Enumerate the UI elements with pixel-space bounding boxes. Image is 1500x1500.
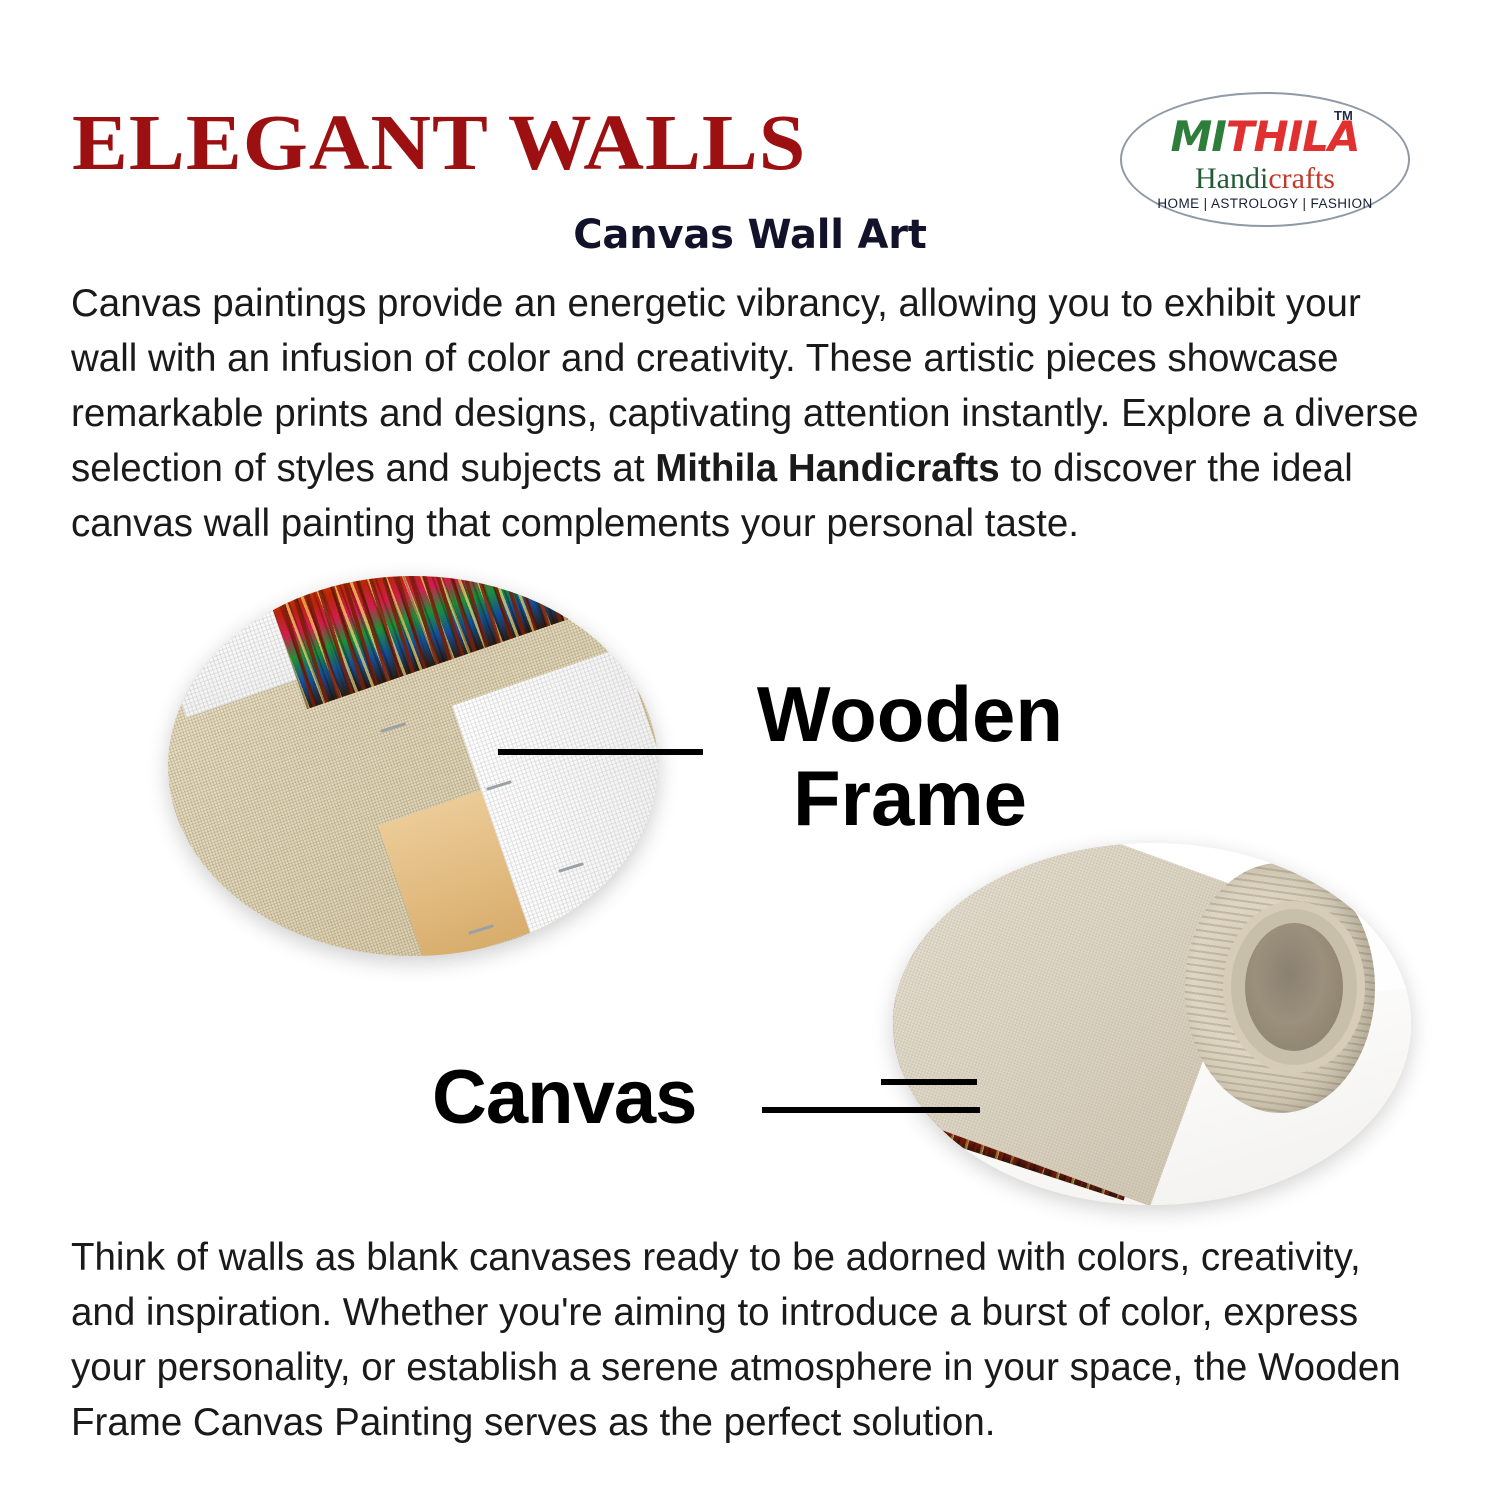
logo-subword-crafts: crafts [1268, 162, 1335, 195]
wooden-frame-label-line2: Frame [700, 756, 1120, 840]
canvas-roll-photo [893, 843, 1411, 1205]
trademark-icon: TM [1334, 108, 1353, 123]
poster-page: ELEGANT WALLS MITHILA TM Handicrafts HOM… [0, 0, 1500, 1500]
page-title: ELEGANT WALLS [72, 104, 806, 183]
wooden-frame-callout-label: Wooden Frame [700, 672, 1120, 840]
logo-subword: Handicrafts [1120, 164, 1410, 194]
intro-paragraph: Canvas paintings provide an energetic vi… [71, 276, 1421, 551]
logo-wordmark-mi: MI [1170, 112, 1225, 161]
canvas-roll-figure [893, 843, 1411, 1205]
closing-paragraph: Think of walls as blank canvases ready t… [71, 1230, 1421, 1450]
intro-brand-emphasis: Mithila Handicrafts [655, 447, 999, 490]
logo-subword-handi: Handi [1195, 162, 1268, 195]
wooden-frame-figure [168, 576, 658, 956]
wooden-frame-label-line1: Wooden [700, 672, 1120, 756]
canvas-connector-line [762, 1107, 980, 1113]
canvas-connector-stub [881, 1079, 977, 1085]
section-subtitle: Canvas Wall Art [0, 212, 1500, 258]
logo-wordmark: MITHILA [1120, 116, 1410, 158]
logo-categories: HOME | ASTROLOGY | FASHION [1120, 196, 1410, 211]
wooden-frame-connector-line [498, 749, 703, 755]
canvas-callout-label: Canvas [432, 1058, 696, 1138]
wooden-frame-photo [168, 576, 658, 956]
canvas-roll-core [1245, 923, 1343, 1051]
brand-logo: MITHILA TM Handicrafts HOME | ASTROLOGY … [1120, 92, 1410, 227]
